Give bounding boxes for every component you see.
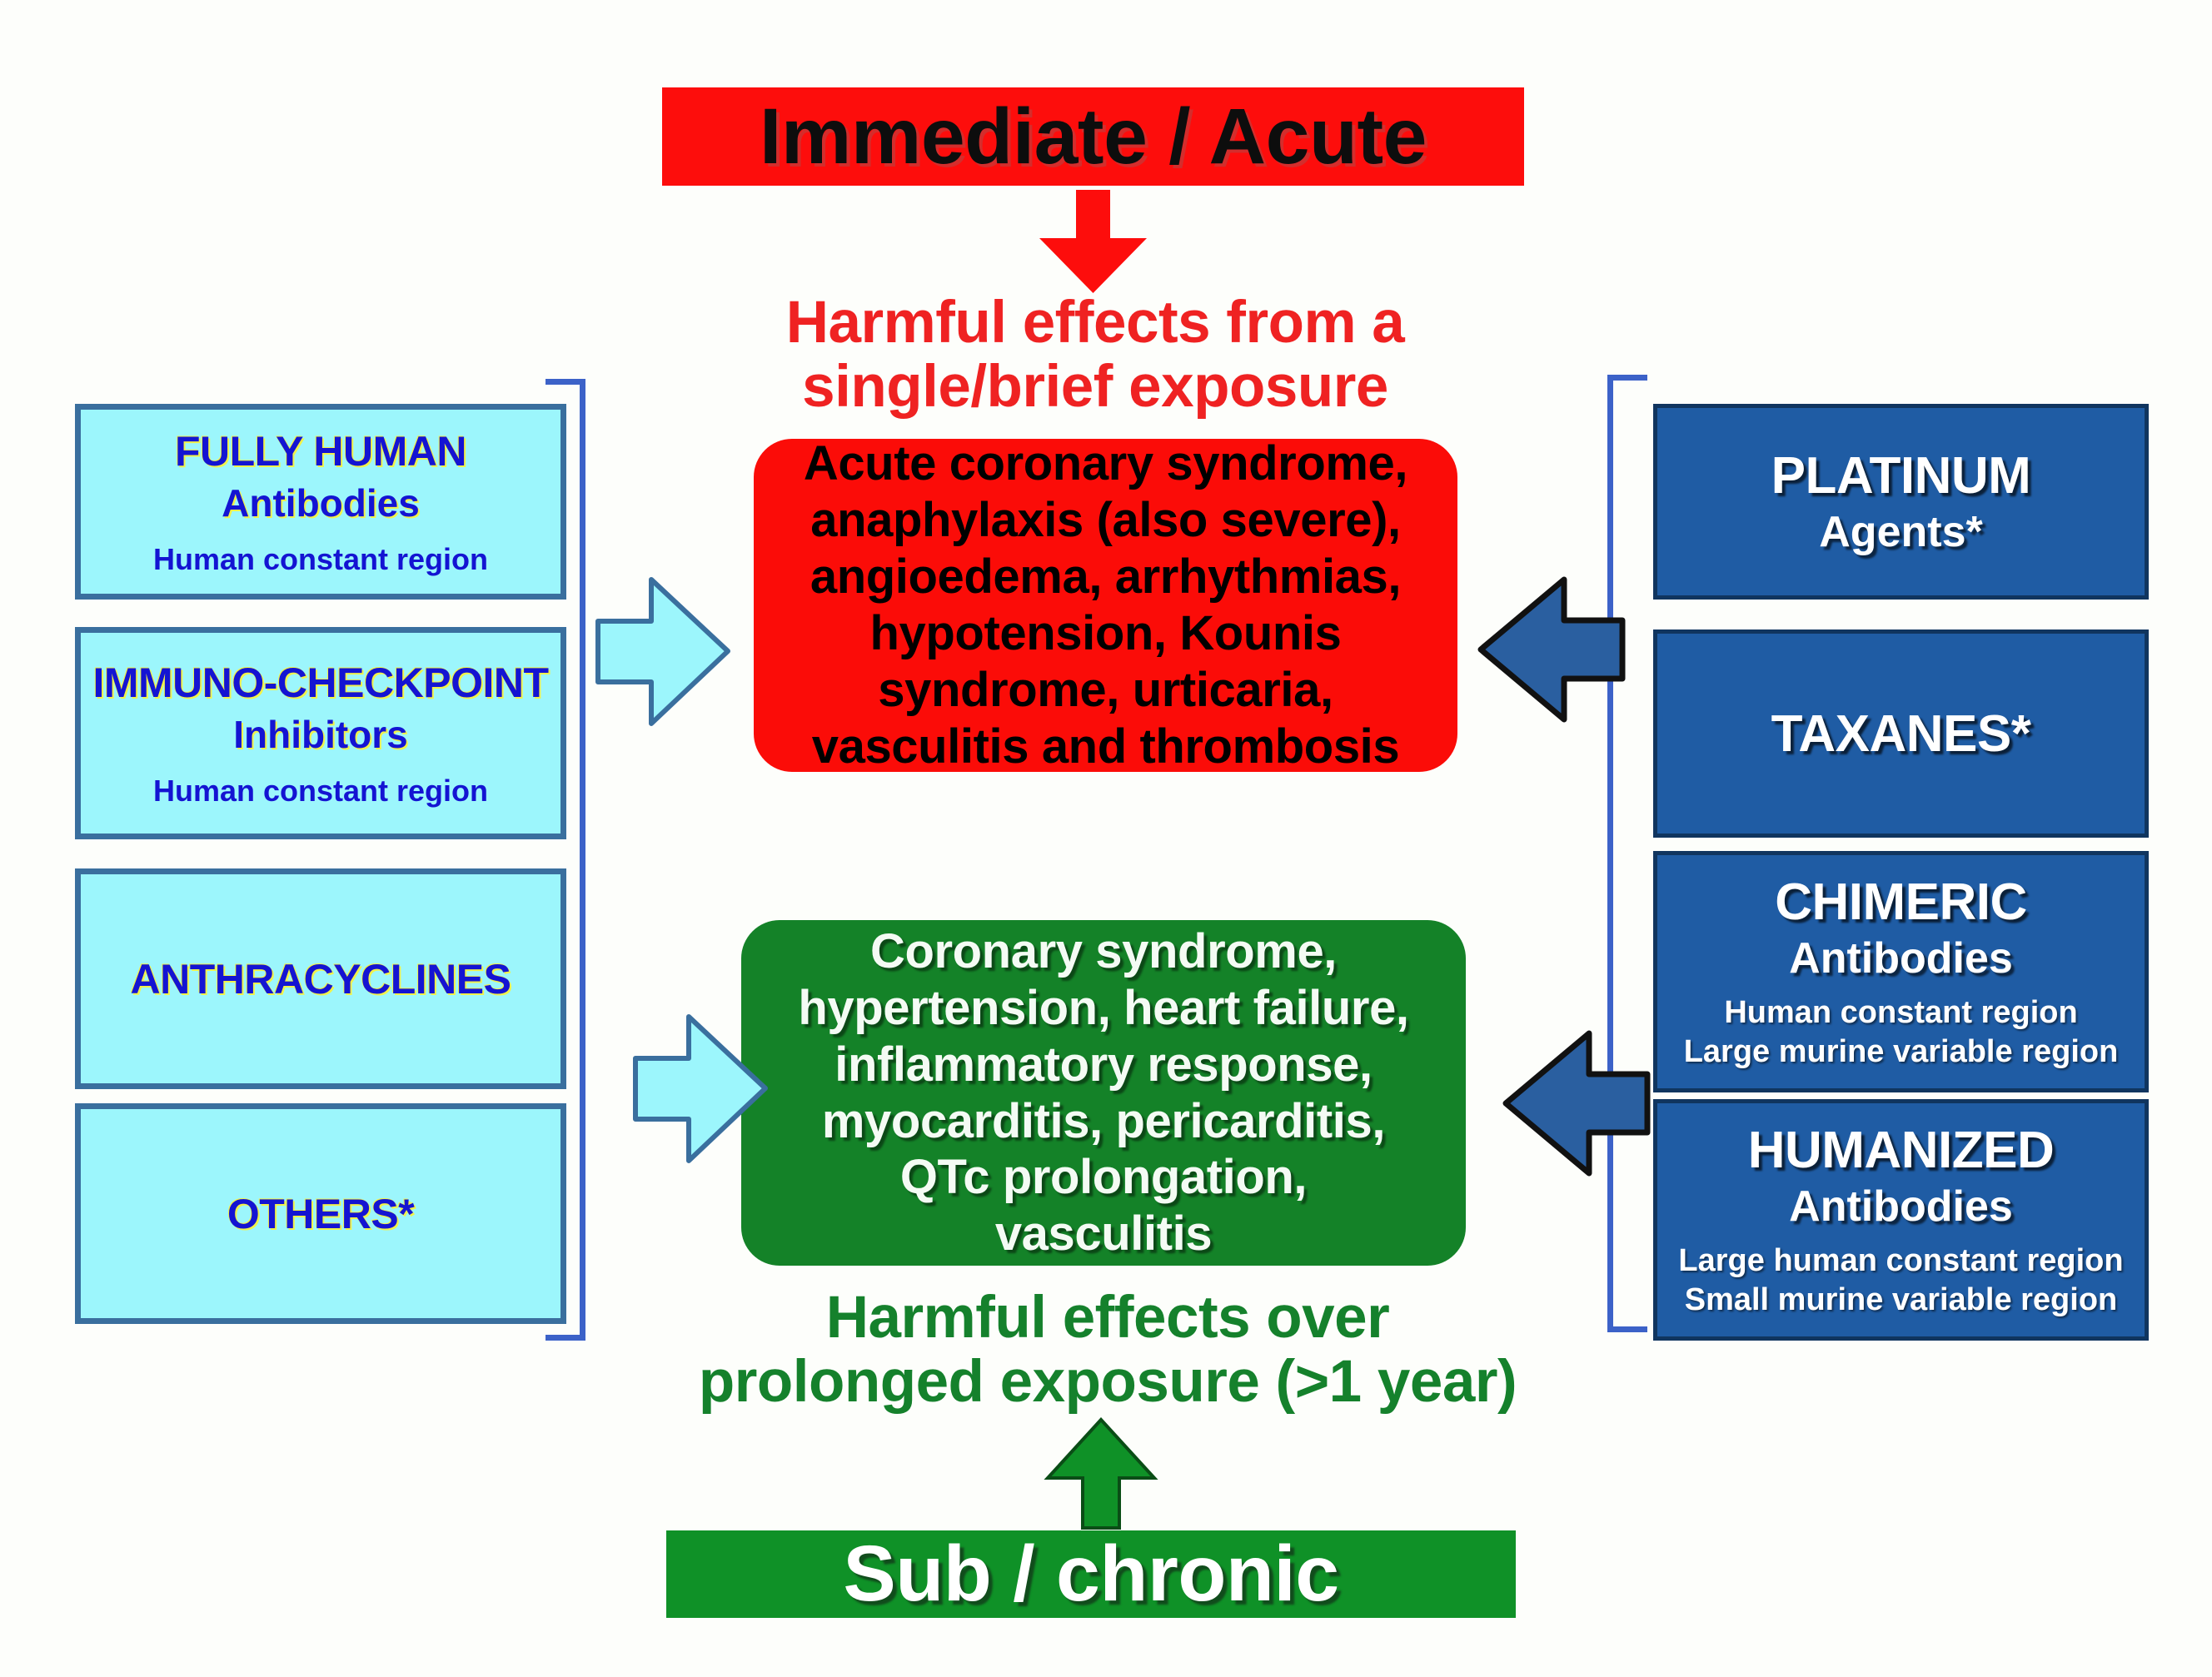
drug-class-chimeric: CHIMERIC Antibodies Human constant regio… [1653,851,2149,1092]
cyan-right-arrow-acute [591,575,733,729]
acute-effect-line: vasculitis and thrombosis [787,719,1424,775]
acute-effect-line: Acute coronary syndrome, [787,435,1424,492]
drug-class-taxanes: TAXANES* [1653,629,2149,838]
cyan-right-arrow-chronic [629,1012,770,1166]
drug-class-detail: Large human constant region [1678,1242,2123,1280]
drug-class-title: HUMANIZED [1748,1121,2054,1180]
drug-class-title: PLATINUM [1771,446,2031,505]
drug-class-detail: Large murine variable region [1684,1033,2119,1071]
drug-class-title: FULLY HUMAN [175,427,466,475]
immediate-acute-banner: Immediate / Acute [662,87,1524,186]
green-up-arrow [1043,1420,1159,1528]
chronic-effect-line: hypertension, heart failure, [775,980,1432,1037]
drug-class-fully-human: FULLY HUMAN Antibodies Human constant re… [75,404,566,600]
drug-class-subtitle: Antibodies [1789,933,2013,983]
acute-effect-line: anaphylaxis (also severe), [787,492,1424,549]
drug-class-detail: Human constant region [1724,993,2077,1032]
drug-class-detail: Small murine variable region [1685,1281,2118,1319]
drug-class-detail: Human constant region [153,774,488,809]
drug-class-immuno-checkpoint: IMMUNO-CHECKPOINT Inhibitors Human const… [75,627,566,839]
red-down-arrow [1033,190,1153,294]
drug-class-detail: Human constant region [153,542,488,577]
chronic-caption: Harmful effects over prolonged exposure … [616,1286,1599,1414]
sub-chronic-banner: Sub / chronic [666,1530,1516,1618]
drug-class-platinum: PLATINUM Agents* [1653,404,2149,600]
chronic-caption-line1: Harmful effects over [616,1286,1599,1351]
chronic-effect-line: Coronary syndrome, [775,923,1432,980]
right-group-bracket [1607,375,1647,1332]
acute-effects-box: Acute coronary syndrome, anaphylaxis (al… [754,439,1457,772]
drug-class-title: TAXANES* [1771,704,2031,764]
drug-class-title: IMMUNO-CHECKPOINT [92,659,548,707]
diagram-canvas: Immediate / Acute Harmful effects from a… [0,0,2212,1677]
drug-class-title: ANTHRACYCLINES [131,955,511,1003]
acute-effect-line: hypotension, Kounis [787,605,1424,662]
acute-effect-line: angioedema, arrhythmias, [787,549,1424,605]
drug-class-title: CHIMERIC [1775,873,2027,932]
chronic-effects-box: Coronary syndrome, hypertension, heart f… [741,920,1466,1266]
acute-caption-line1: Harmful effects from a [691,291,1499,356]
chronic-effect-line: myocarditis, pericarditis, [775,1093,1432,1150]
drug-class-anthracyclines: ANTHRACYCLINES [75,868,566,1089]
acute-caption-line2: single/brief exposure [691,356,1499,420]
drug-class-subtitle: Inhibitors [233,712,408,757]
chronic-effect-line: QTc prolongation, [775,1149,1432,1206]
blue-left-arrow-acute [1474,575,1628,724]
acute-effect-line: syndrome, urticaria, [787,662,1424,719]
acute-caption: Harmful effects from a single/brief expo… [691,291,1499,419]
drug-class-subtitle: Antibodies [222,480,420,525]
drug-class-others: OTHERS* [75,1103,566,1324]
blue-left-arrow-chronic [1499,1028,1653,1178]
drug-class-humanized: HUMANIZED Antibodies Large human constan… [1653,1099,2149,1341]
drug-class-subtitle: Agents* [1819,507,1982,557]
drug-class-subtitle: Antibodies [1789,1182,2013,1232]
chronic-effect-line: inflammatory response, [775,1037,1432,1093]
chronic-caption-line2: prolonged exposure (>1 year) [616,1351,1599,1415]
chronic-effect-line: vasculitis [775,1206,1432,1262]
drug-class-title: OTHERS* [227,1190,414,1238]
